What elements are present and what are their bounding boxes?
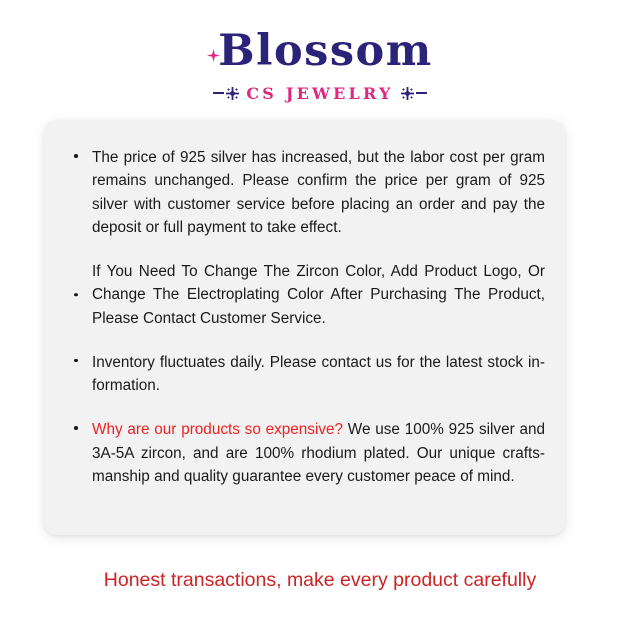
notice-question-highlight: Why are our products so expensive? [92, 421, 343, 438]
notice-text: If You Need To Change The Zircon Color, … [92, 263, 545, 327]
brand-name: Blossom [218, 30, 432, 73]
notice-bullet-list: The price of 925 silver has increased, b… [70, 146, 545, 488]
snowflake-ornament-icon-left [213, 87, 239, 100]
list-item-inventory-notice: Inventory fluctuates daily. Please conta… [70, 351, 545, 398]
footer-tagline: Honest transactions, make every product … [0, 568, 640, 593]
bullet-marker-icon [74, 426, 78, 430]
bullet-marker-icon [74, 154, 78, 158]
notice-text: The price of 925 silver has increased, b… [92, 149, 545, 236]
bullet-marker-icon [74, 359, 78, 363]
brand-header: Blossom CS JEWELRY [0, 26, 640, 103]
notice-card: The price of 925 silver has increased, b… [44, 120, 565, 535]
sparkle-icon [207, 49, 220, 62]
list-item-pricing-explanation: Why are our products so expensive? We us… [70, 418, 545, 488]
brand-subtitle-row: CS JEWELRY [0, 83, 640, 103]
list-item-customization-notice: If You Need To Change The Zircon Color, … [70, 260, 545, 330]
ornament-dash-left [213, 92, 224, 94]
snowflake-ornament-icon-right [401, 87, 427, 100]
list-item-price-notice: The price of 925 silver has increased, b… [70, 146, 545, 239]
ornament-dash-right [416, 92, 427, 94]
brand-subtitle: CS JEWELRY [246, 84, 393, 103]
bullet-marker-icon [74, 293, 78, 297]
brand-wordmark-row: Blossom [0, 26, 640, 76]
notice-text: Inventory fluctuates daily. Please conta… [92, 354, 545, 394]
